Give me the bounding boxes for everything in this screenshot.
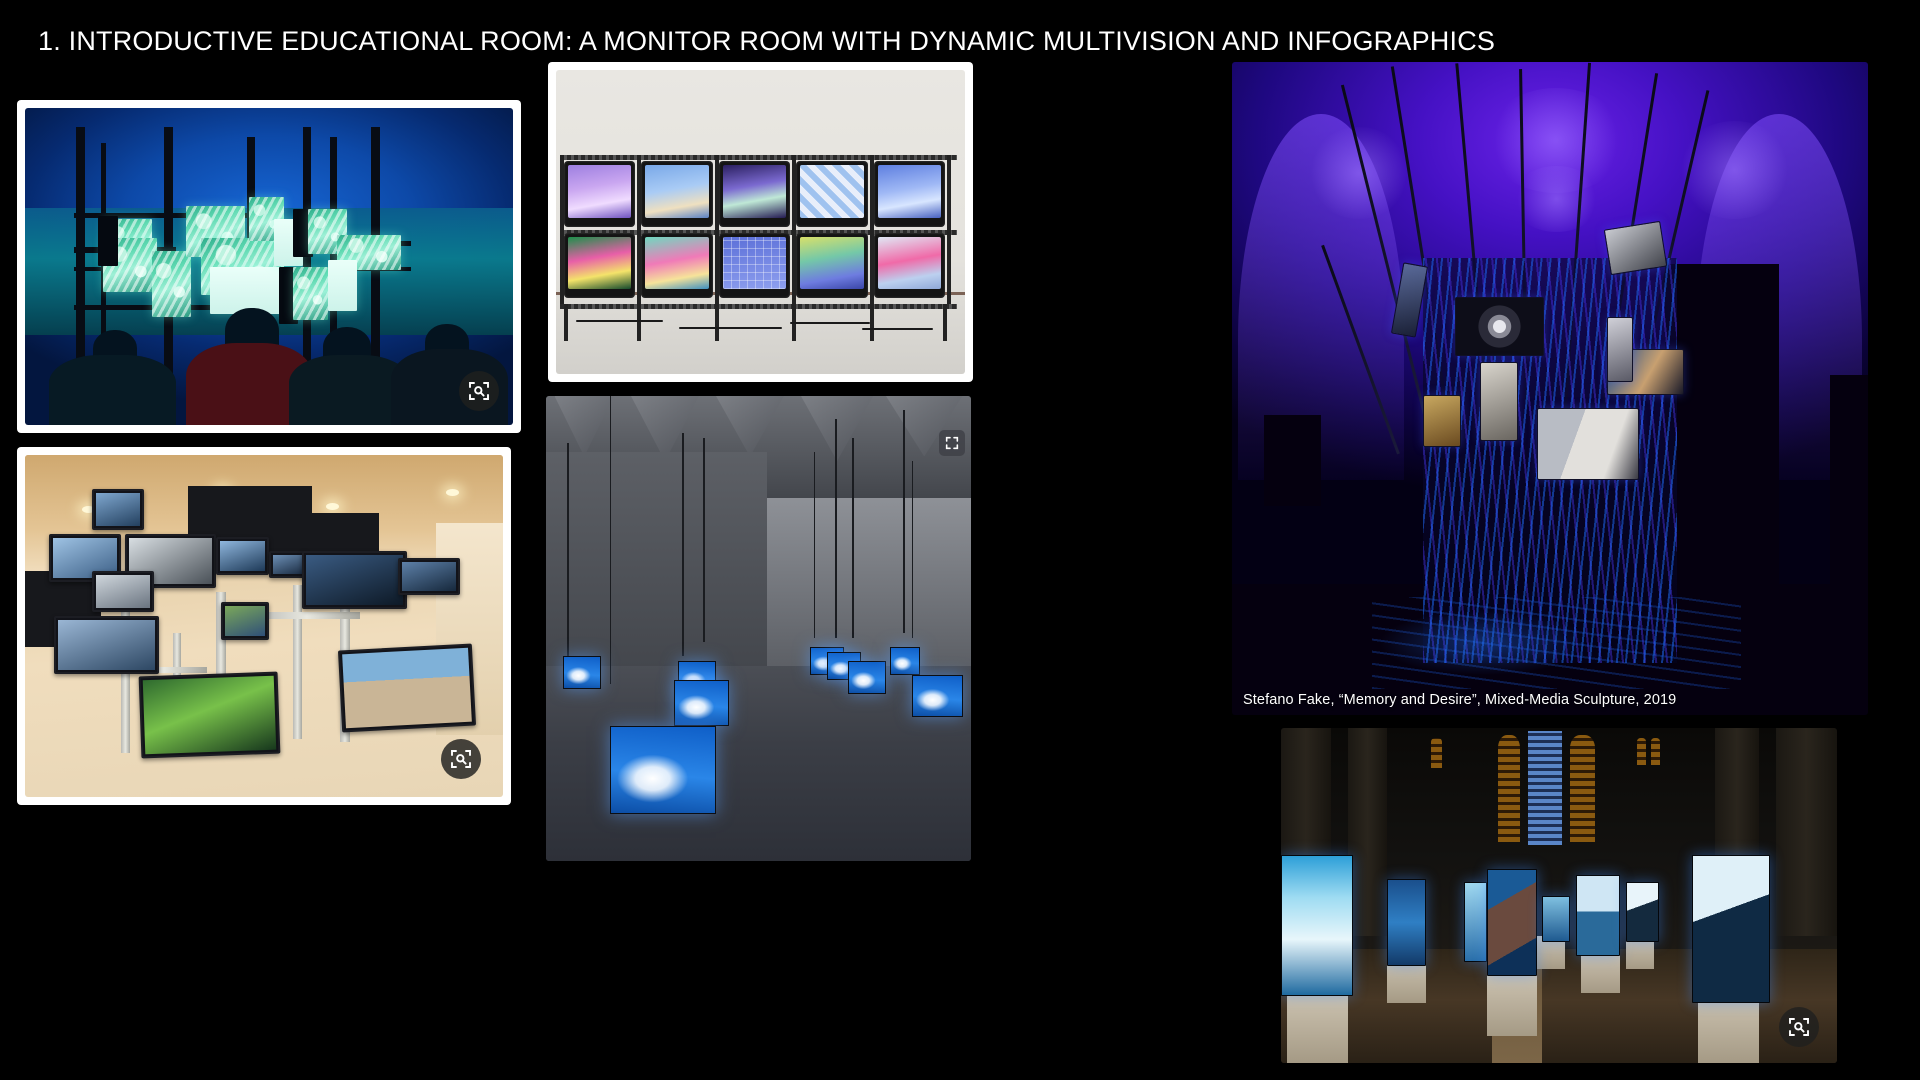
image-card-blue-grid-gallery[interactable] [17, 100, 521, 433]
photo-cloud-monitors-floor [546, 396, 971, 861]
image-search-icon [467, 379, 491, 403]
photo-crt-monitor-wall [556, 70, 965, 374]
image-search-button-3[interactable] [1779, 1007, 1819, 1047]
image-search-button-2[interactable] [441, 739, 481, 779]
photo-blue-grid-gallery [25, 108, 513, 425]
image-search-button-1[interactable] [459, 371, 499, 411]
photo-blue-baroque-sculpture [1232, 62, 1868, 715]
image-caption-memory-and-desire: Stefano Fake, “Memory and Desire”, Mixed… [1243, 692, 1676, 708]
image-card-blue-baroque-sculpture[interactable]: Stefano Fake, “Memory and Desire”, Mixed… [1232, 62, 1868, 715]
photo-monitor-truss-installation [25, 455, 503, 797]
image-card-crt-monitor-wall[interactable] [548, 62, 973, 382]
expand-brackets-button[interactable] [939, 430, 965, 456]
image-search-icon [1787, 1015, 1811, 1039]
image-search-icon [449, 747, 473, 771]
photo-cathedral-portrait-screens [1281, 728, 1837, 1063]
image-card-cloud-monitors-floor[interactable] [546, 396, 971, 861]
page-title: 1. INTRODUCTIVE EDUCATIONAL ROOM: A MONI… [38, 26, 1495, 57]
image-card-monitor-truss-installation[interactable] [17, 447, 511, 805]
image-card-cathedral-portrait-screens[interactable] [1281, 728, 1837, 1063]
slide-root: 1. INTRODUCTIVE EDUCATIONAL ROOM: A MONI… [0, 0, 1920, 1080]
expand-brackets-icon [944, 435, 960, 451]
